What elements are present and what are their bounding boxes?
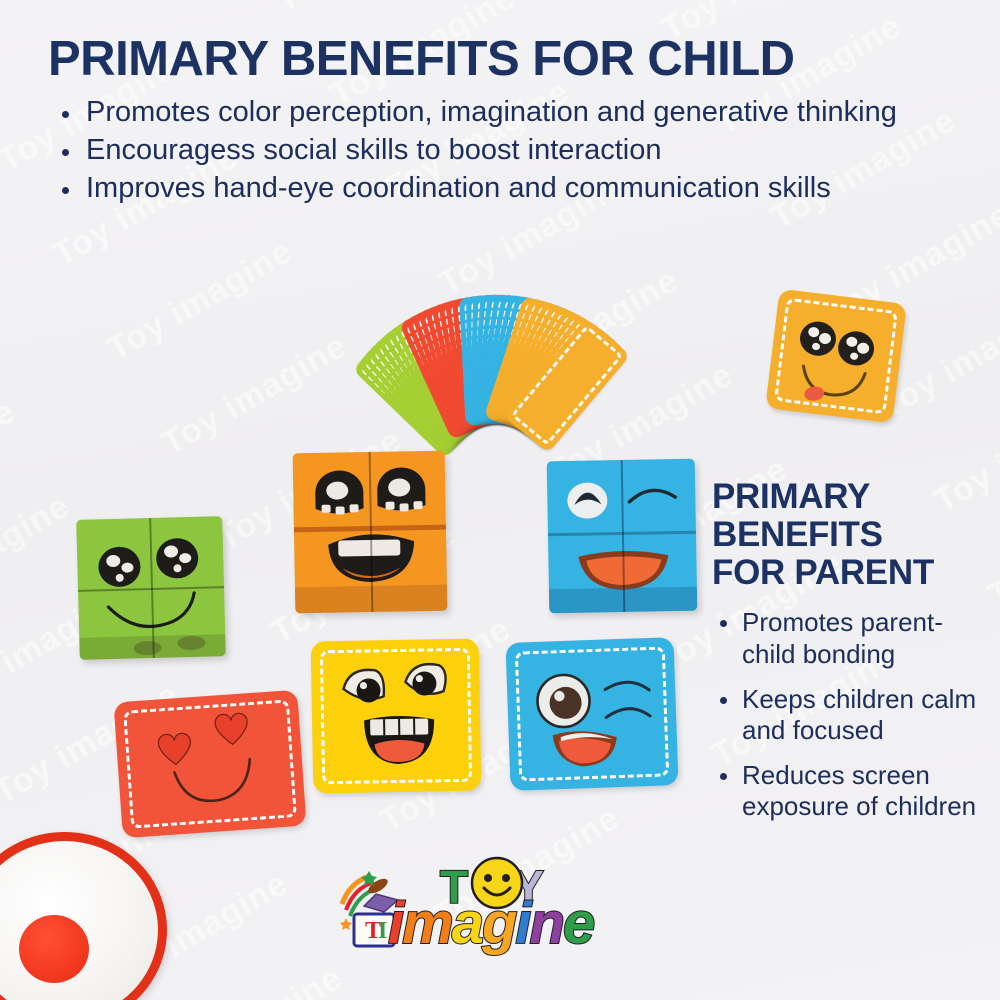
logo-letter: e <box>563 891 593 956</box>
child-benefits-block: PRIMARY BENEFITS FOR CHILD Promotes colo… <box>48 34 948 209</box>
fan-top-card <box>765 289 907 424</box>
blue-cube-block <box>547 459 698 614</box>
answer-buzzer <box>0 832 167 1000</box>
toy-imagine-logo: T I TY imagine <box>336 858 596 964</box>
logo-letter: i <box>388 891 402 956</box>
blue-card <box>505 637 678 791</box>
child-benefit-list: Promotes color perception, imagination a… <box>48 95 948 207</box>
red-card <box>113 690 306 839</box>
infographic-page: Toy imagine Toy imagine Toy imagine Toy … <box>0 0 1000 1000</box>
yellow-card <box>311 639 482 794</box>
list-item: Reduces screen exposure of children <box>712 760 994 822</box>
page-title: PRIMARY BENEFITS FOR CHILD <box>48 34 948 85</box>
logo-letter: n <box>530 891 563 956</box>
cube-face <box>547 459 698 614</box>
list-item: Keeps children calm and focused <box>712 684 994 746</box>
list-item: Improves hand-eye coordination and commu… <box>48 171 928 207</box>
orange-cube-block <box>293 451 448 614</box>
parent-benefits-block: PRIMARY BENEFITS FOR PARENT Promotes par… <box>712 478 994 837</box>
svg-text:I: I <box>378 918 387 944</box>
list-item: Promotes parent-child bonding <box>712 607 994 669</box>
parent-section-title: PRIMARY BENEFITS FOR PARENT <box>712 478 994 591</box>
list-item: Encouragess social skills to boost inter… <box>48 133 928 169</box>
parent-title-line: FOR PARENT <box>712 554 994 592</box>
parent-title-line: PRIMARY <box>712 478 994 516</box>
winking-face-smile-icon <box>505 637 678 791</box>
logo-letter: i <box>515 891 529 956</box>
logo-word-imagine: imagine <box>388 890 593 957</box>
buzzer-button <box>19 915 89 983</box>
logo-letter: m <box>402 891 452 956</box>
heart-eyes-smile-icon <box>113 690 306 839</box>
smiling-face-with-tongue-icon <box>765 289 907 424</box>
logo-letter: a <box>452 891 482 956</box>
parent-benefit-list: Promotes parent-child bonding Keeps chil… <box>712 607 994 822</box>
cube-face <box>293 451 448 614</box>
laughing-face-with-tongue-icon <box>311 639 482 794</box>
parent-title-line: BENEFITS <box>712 516 994 554</box>
list-item: Promotes color perception, imagination a… <box>48 95 928 131</box>
green-cube-block <box>76 516 226 660</box>
cube-face <box>76 516 226 660</box>
logo-letter: g <box>482 891 515 956</box>
